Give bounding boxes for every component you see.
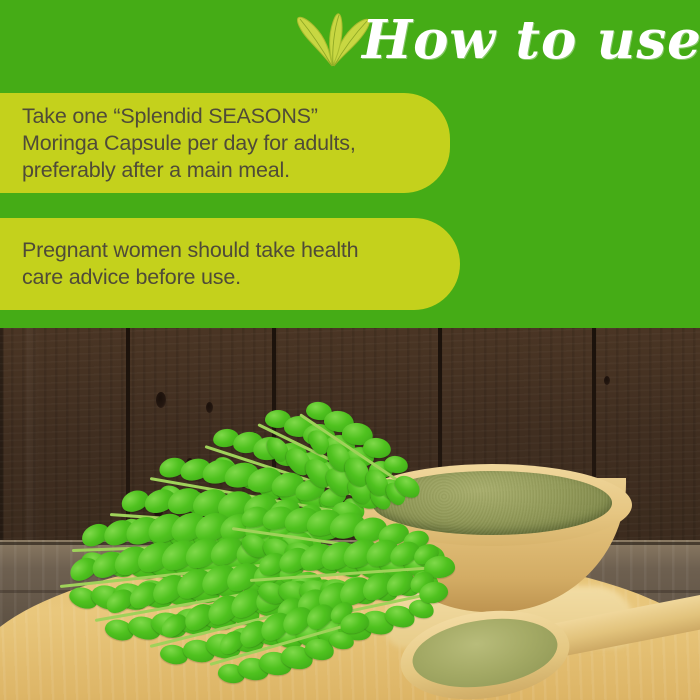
poster-header: How to use bbox=[0, 0, 700, 90]
how-to-use-poster: How to use Take one “Splendid SEASONS” M… bbox=[0, 0, 700, 700]
page-title: How to use bbox=[362, 0, 662, 82]
moringa-leaf-sprig-icon bbox=[296, 8, 372, 70]
callout-dosage-instruction: Take one “Splendid SEASONS” Moringa Caps… bbox=[0, 93, 450, 193]
moringa-leaf-branches bbox=[0, 328, 700, 700]
callout-pregnancy-warning: Pregnant women should take health care a… bbox=[0, 218, 460, 310]
callout-line: preferably after a main meal. bbox=[22, 157, 426, 184]
product-photo bbox=[0, 328, 700, 700]
callout-line: Moringa Capsule per day for adults, bbox=[22, 130, 426, 157]
callout-line: care advice before use. bbox=[22, 264, 436, 291]
callout-line: Pregnant women should take health bbox=[22, 237, 436, 264]
callout-line: Take one “Splendid SEASONS” bbox=[22, 103, 426, 130]
